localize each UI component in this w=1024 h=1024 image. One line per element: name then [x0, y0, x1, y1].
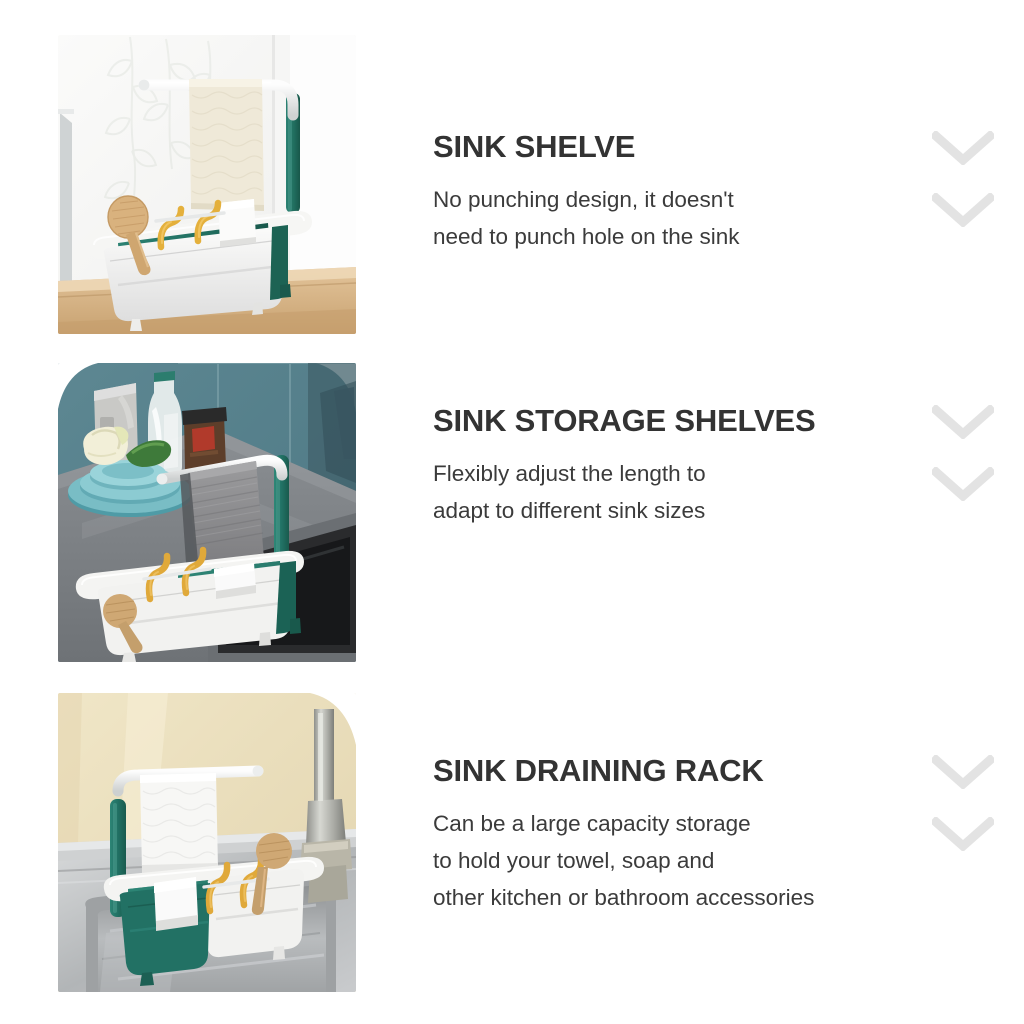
feature-description: No punching design, it doesn't need to p…	[433, 181, 928, 255]
product-photo-sink-draining-rack	[58, 693, 356, 992]
towel	[140, 773, 218, 873]
towel	[180, 461, 264, 571]
feature-description: Can be a large capacity storage to hold …	[433, 805, 928, 916]
product-photo-sink-shelve	[58, 35, 356, 334]
chevron-down-icon	[932, 755, 994, 789]
product-feature-infographic: SINK SHELVE No punching design, it doesn…	[0, 0, 1024, 1024]
chevron-down-icon	[932, 131, 994, 165]
feature-textblock: SINK STORAGE SHELVES Flexibly adjust the…	[433, 405, 928, 529]
feature-textblock: SINK SHELVE No punching design, it doesn…	[433, 131, 928, 255]
feature-title: SINK STORAGE SHELVES	[433, 405, 928, 436]
windowsill-scene-illustration	[58, 35, 356, 334]
chevron-decoration-group	[932, 131, 994, 227]
chevron-down-icon	[932, 467, 994, 501]
chevron-decoration-group	[932, 405, 994, 501]
feature-title: SINK SHELVE	[433, 131, 928, 162]
chevron-decoration-group	[932, 755, 994, 851]
product-photo-sink-storage-shelves	[58, 363, 356, 662]
chevron-down-icon	[932, 817, 994, 851]
towel	[189, 79, 264, 211]
chevron-down-icon	[932, 193, 994, 227]
gray-counter-scene-illustration	[58, 363, 356, 662]
steel-sink-scene-illustration	[58, 693, 356, 992]
feature-title: SINK DRAINING RACK	[433, 755, 928, 786]
chevron-down-icon	[932, 405, 994, 439]
feature-textblock: SINK DRAINING RACK Can be a large capaci…	[433, 755, 928, 916]
feature-row: SINK DRAINING RACK Can be a large capaci…	[0, 693, 1024, 993]
feature-row: SINK STORAGE SHELVES Flexibly adjust the…	[0, 363, 1024, 663]
feature-description: Flexibly adjust the length to adapt to d…	[433, 455, 928, 529]
feature-row: SINK SHELVE No punching design, it doesn…	[0, 35, 1024, 335]
